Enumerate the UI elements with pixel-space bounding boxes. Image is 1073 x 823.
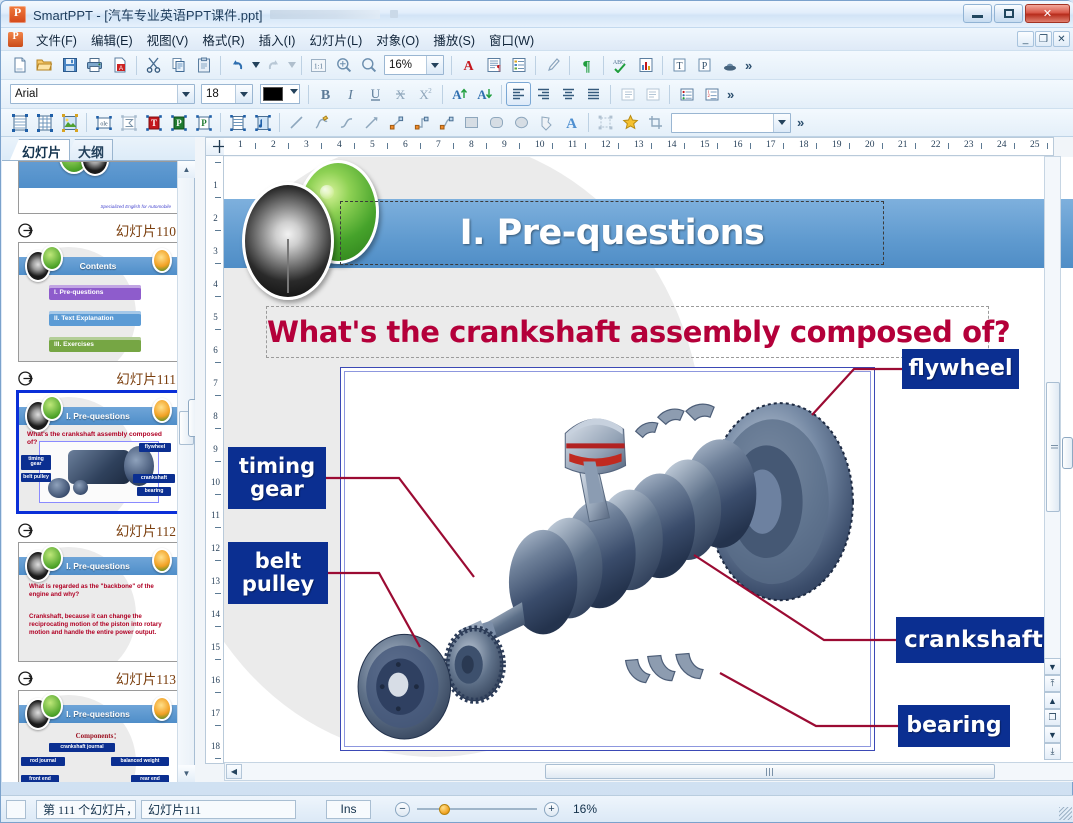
mdi-close-button[interactable]: ✕ [1053, 31, 1070, 47]
ruler-minor-tick [849, 143, 850, 149]
ruler-tick: 8 [206, 411, 224, 421]
ruler-minor-tick [618, 143, 619, 149]
slide-sorter-icon[interactable]: ❐ [1044, 709, 1061, 726]
ruler-minor-tick [882, 143, 883, 149]
standard-toolbar-overflow[interactable]: » [745, 58, 752, 73]
slide-navigator-panel: 幻灯片 大纲 Specialized English for Automobil… [2, 137, 195, 782]
ruler-tick: 5 [370, 140, 375, 150]
number-list-button[interactable]: 12 [699, 82, 724, 106]
ruler-tick: 16 [733, 140, 743, 150]
scroll-down-icon[interactable]: ▼ [178, 765, 195, 782]
chevron-down-icon[interactable] [290, 89, 298, 94]
formatting-toolbar-overflow[interactable]: » [727, 87, 734, 102]
underline-button[interactable]: U [363, 82, 388, 106]
insert-text-object-icon[interactable]: T [141, 111, 166, 135]
ruler-tick: 24 [997, 140, 1007, 150]
font-color-picker[interactable] [260, 84, 300, 104]
redo-icon[interactable] [261, 53, 286, 77]
ruler-minor-tick [215, 725, 221, 726]
toolbar-separator [669, 85, 670, 104]
ruler-minor-tick [816, 143, 817, 149]
ruler-tick: 17 [766, 140, 776, 150]
insert-spreadsheet-icon[interactable] [32, 111, 57, 135]
svg-text:A: A [463, 59, 474, 73]
menu-bar: 文件(F) 编辑(E) 视图(V) 格式(R) 插入(I) 幻灯片(L) 对象(… [1, 27, 1073, 50]
ruler-minor-tick [215, 329, 221, 330]
mini-contents-item-2: II. Text Explanation [49, 311, 141, 326]
font-name-combobox[interactable]: Arial [10, 84, 195, 104]
thumbnail-header: 幻灯片111 [18, 366, 178, 390]
toolbar-separator [279, 113, 280, 132]
toolbar-separator [442, 85, 443, 104]
slide-editor: 1234567891011121314151617181920212223242… [195, 137, 1073, 782]
ruler-tick: 13 [634, 140, 644, 150]
previous-slide-icon[interactable]: ▲ [1044, 692, 1061, 709]
toolbar-separator [301, 56, 302, 75]
chevron-down-icon[interactable] [426, 56, 443, 74]
slide-question-placeholder[interactable]: What's the crankshaft assembly composed … [266, 306, 989, 358]
crankshaft-picture-frame[interactable] [340, 367, 875, 751]
label-timing-gear[interactable]: timing gear [228, 447, 326, 509]
align-justify-button[interactable] [581, 82, 606, 106]
svg-text:1:1: 1:1 [314, 62, 323, 70]
ruler-tick: 18 [206, 741, 224, 751]
print-icon[interactable] [82, 53, 107, 77]
label-belt-pulley[interactable]: belt pulley [228, 542, 328, 604]
strikethrough-button[interactable]: X [388, 82, 413, 106]
menu-play[interactable]: 播放(S) [426, 28, 482, 51]
toolbar-separator [588, 113, 589, 132]
canvas-splitter-handle[interactable] [1062, 437, 1073, 469]
zoom-control: − + 16% [395, 802, 597, 817]
mini-label-flywheel: flywheel [139, 443, 171, 452]
new-icon[interactable] [7, 53, 32, 77]
ruler-tick: 4 [337, 140, 342, 150]
ruler-tick: 21 [898, 140, 908, 150]
ruler-minor-tick [215, 560, 221, 561]
tab-slides[interactable]: 幻灯片 [10, 139, 70, 160]
document-icon[interactable] [8, 32, 23, 47]
mini-bullet-1: What is regarded as the "backbone" of th… [29, 583, 171, 599]
zoom-slider-track[interactable] [417, 808, 537, 810]
decrease-indent-button[interactable] [615, 82, 640, 106]
toolbar-separator [662, 56, 663, 75]
ruler-minor-tick [288, 143, 289, 149]
insert-image-icon[interactable] [57, 111, 82, 135]
align-center-button[interactable] [556, 82, 581, 106]
ruler-minor-tick [453, 143, 454, 149]
scroll-left-icon[interactable]: ◀ [226, 764, 242, 779]
ruler-tick: 12 [206, 543, 224, 553]
ruler-tick: 23 [964, 140, 974, 150]
title-ghost-mark [390, 10, 398, 18]
mini-label-bearing: bearing [137, 487, 171, 496]
zoom-out-icon[interactable] [356, 53, 381, 77]
thumbnail-header: 幻灯片113 [18, 666, 178, 690]
ellipse-tool-icon[interactable] [509, 111, 534, 135]
ruler-minor-tick [215, 494, 221, 495]
scroll-down-small-icon[interactable]: ▼ [1044, 658, 1061, 675]
shrink-font-button[interactable]: A [472, 82, 497, 106]
bold-button[interactable]: B [313, 82, 338, 106]
ruler-tick: 3 [304, 140, 309, 150]
panel-tabs: 幻灯片 大纲 [2, 137, 195, 161]
slide-counter-field: 第 111 个幻灯片， [36, 800, 136, 819]
ruler-tick: 11 [206, 510, 224, 520]
stamp-icon[interactable] [717, 53, 742, 77]
ruler-tick: 19 [832, 140, 842, 150]
export-pdf-icon[interactable]: A [107, 53, 132, 77]
ruler-tick: 3 [206, 246, 224, 256]
ruler-minor-tick [387, 143, 388, 149]
ruler-tick: 13 [206, 576, 224, 586]
menu-format[interactable]: 格式(R) [195, 28, 251, 51]
window-resize-grip[interactable] [1059, 807, 1072, 820]
transition-icon[interactable] [18, 370, 38, 387]
ruler-minor-tick [215, 197, 221, 198]
ruler-minor-tick [354, 143, 355, 149]
slide-question-text: What's the crankshaft assembly composed … [267, 315, 1010, 349]
horizontal-ruler[interactable]: 1234567891011121314151617181920212223242… [224, 137, 1054, 156]
svg-text:P: P [176, 118, 182, 128]
vertical-ruler[interactable]: 123456789101112131415161718 [205, 156, 224, 764]
next-slide-icon[interactable]: ▼ [1044, 726, 1061, 743]
standard-toolbar: A 1:1 [1, 50, 1073, 79]
redo-dropdown[interactable] [286, 53, 297, 77]
italic-button[interactable]: I [338, 82, 363, 106]
ruler-minor-tick [215, 428, 221, 429]
ruler-tick: 20 [865, 140, 875, 150]
drawing-toolbar-overflow[interactable]: » [797, 115, 804, 130]
undo-dropdown[interactable] [250, 53, 261, 77]
thumbnail-header: 幻灯片110 [18, 218, 178, 242]
bullet-list-button[interactable] [674, 82, 699, 106]
svg-text:P: P [702, 61, 708, 72]
mini-tulip-photo [152, 548, 172, 573]
zoom-in-button[interactable]: + [544, 802, 559, 817]
zoom-slider-handle[interactable] [439, 804, 450, 815]
textbox-icon[interactable]: T [667, 53, 692, 77]
placeholder-icon[interactable]: P [692, 53, 717, 77]
zoom-fit-icon[interactable] [331, 53, 356, 77]
menu-slide[interactable]: 幻灯片(L) [302, 28, 369, 51]
zoom-combobox[interactable]: 16% [384, 55, 444, 75]
formatting-toolbar: Arial 18 B I U X X2 A A 12 » [1, 79, 1073, 108]
paragraph-icon[interactable]: ¶ [481, 53, 506, 77]
insert-chart-object-icon[interactable] [225, 111, 250, 135]
ruler-minor-tick [552, 143, 553, 149]
color-swatch [263, 87, 283, 101]
zoom-actual-icon[interactable]: 1:1 [306, 53, 331, 77]
window-controls: ✕ [963, 4, 1070, 23]
mini-label-belt-pulley: belt pulley [21, 473, 51, 482]
mini-leaf-photo [41, 693, 63, 719]
slide-thumbnail-list: Specialized English for Automobile 幻灯片11… [2, 161, 178, 782]
insert-ole-icon[interactable]: ole [91, 111, 116, 135]
group-icon[interactable] [593, 111, 618, 135]
freehand-tool-icon[interactable] [309, 111, 334, 135]
mini-leaf-photo [41, 245, 63, 271]
scroll-up-icon[interactable]: ▲ [178, 161, 195, 178]
ruler-tick: 14 [667, 140, 677, 150]
mini-label-timing-gear: timing gear [21, 455, 51, 470]
ruler-minor-tick [915, 143, 916, 149]
svg-text:¶: ¶ [497, 64, 501, 73]
align-left-button[interactable] [506, 82, 531, 106]
thumbnail-slide-113[interactable]: 幻灯片113 I. Pre-questions Components： cran… [2, 662, 178, 782]
svg-text:¶: ¶ [582, 59, 590, 74]
ruler-minor-tick [215, 659, 221, 660]
dandelion-photo[interactable] [242, 182, 334, 300]
toolbar-separator [220, 56, 221, 75]
tab-outline[interactable]: 大纲 [66, 139, 113, 160]
window-title: SmartPPT - [汽车专业英语PPT课件.ppt] [33, 5, 262, 24]
font-size-combobox[interactable]: 18 [201, 84, 253, 104]
ruler-tick: 4 [206, 279, 224, 289]
curved-connector-icon[interactable] [434, 111, 459, 135]
mini-heading: Components： [19, 731, 177, 741]
ruler-minor-tick [1047, 143, 1048, 149]
mini-label-crankshaft-journal: crankshaft journal [49, 743, 115, 752]
ruler-minor-tick [255, 143, 256, 149]
cut-icon[interactable] [141, 53, 166, 77]
toolbar-separator [501, 85, 502, 104]
wordart-tool-icon[interactable]: A [559, 111, 584, 135]
canvas-vertical-scrollbar[interactable] [1044, 156, 1061, 716]
zoom-level-label: 16% [573, 802, 597, 816]
toolbar-separator [535, 56, 536, 75]
transition-icon[interactable] [18, 522, 38, 539]
ruler-tick: 6 [206, 345, 224, 355]
svg-text:A: A [118, 66, 122, 72]
ruler-minor-tick [215, 692, 221, 693]
status-bar: 第 111 个幻灯片， 幻灯片111 Ins − + 16% [1, 795, 1073, 822]
vertical-scrollbar-thumb[interactable] [1046, 382, 1060, 512]
svg-text:B: B [321, 88, 330, 102]
outline-list-icon[interactable] [506, 53, 531, 77]
insert-project-icon[interactable]: P [191, 111, 216, 135]
ruler-minor-tick [215, 527, 221, 528]
ruler-tick: 9 [502, 140, 507, 150]
ruler-tick: 6 [403, 140, 408, 150]
horizontal-scrollbar-thumb[interactable] [545, 764, 995, 779]
toolbar-separator [136, 56, 137, 75]
mdi-restore-button[interactable]: ❐ [1035, 31, 1052, 47]
svg-text:ole: ole [100, 121, 108, 127]
application-window: SmartPPT - [汽车专业英语PPT课件.ppt] ✕ 文件(F) 编辑(… [0, 0, 1073, 823]
grow-font-button[interactable]: A [447, 82, 472, 106]
undo-icon[interactable] [225, 53, 250, 77]
maximize-button[interactable] [994, 4, 1023, 23]
insert-mode-field[interactable]: Ins [326, 800, 371, 819]
superscript-button[interactable]: X2 [413, 82, 438, 106]
label-belt-line2: pulley [242, 572, 314, 596]
ruler-minor-tick [215, 362, 221, 363]
mini-footer: Specialized English for Automobile [100, 204, 171, 209]
font-name-value: Arial [15, 88, 38, 100]
chevron-down-icon[interactable] [177, 85, 194, 103]
chevron-down-icon[interactable] [773, 114, 790, 132]
font-size-value: 18 [206, 88, 219, 100]
zoom-combobox-value: 16% [389, 59, 412, 71]
title-ghost-text [270, 10, 380, 19]
ruler-minor-tick [215, 461, 221, 462]
svg-text:A: A [477, 87, 487, 102]
app-logo-icon [9, 6, 26, 23]
ruler-tick: 16 [206, 675, 224, 685]
thumbnail-number: 幻灯片113 [116, 668, 176, 688]
slide-title-text: I. Pre-questions [460, 213, 765, 253]
thumbnail-image[interactable]: I. Pre-questions What is regarded as the… [18, 542, 178, 662]
menu-window[interactable]: 窗口(W) [482, 28, 541, 51]
menu-view[interactable]: 视图(V) [140, 28, 196, 51]
ruler-tick: 10 [535, 140, 545, 150]
canvas-horizontal-scrollbar[interactable]: ◀ ▶ [224, 762, 1073, 781]
slide-panel-scrollbar[interactable]: ▲ ▼ [177, 161, 194, 782]
ruler-tick: 7 [436, 140, 441, 150]
insert-presentation-icon[interactable]: P [166, 111, 191, 135]
ruler-minor-tick [981, 143, 982, 149]
svg-text:A: A [452, 87, 462, 102]
transition-icon[interactable] [18, 222, 38, 239]
format-painter-icon[interactable] [540, 53, 565, 77]
last-slide-icon[interactable]: ⤓ [1044, 743, 1061, 760]
insert-formula-icon[interactable] [116, 111, 141, 135]
thumbnail-image[interactable]: I. Pre-questions Components： crankshaft … [18, 690, 178, 782]
label-belt-line1: belt [255, 549, 302, 573]
ruler-tick: 2 [271, 140, 276, 150]
mini-leaf-photo [41, 545, 63, 571]
thumbnail-slide-112[interactable]: 幻灯片112 I. Pre-questions What is regarded… [2, 514, 178, 662]
label-crankshaft[interactable]: crankshaft [896, 617, 1051, 663]
connector-tool-icon[interactable] [384, 111, 409, 135]
curve-tool-icon[interactable] [334, 111, 359, 135]
label-flywheel[interactable]: flywheel [902, 349, 1019, 389]
font-color-icon[interactable]: A [456, 53, 481, 77]
thumbnail-image[interactable]: Contents I. Pre-questions II. Text Expla… [18, 242, 178, 362]
maximize-icon [1004, 9, 1014, 18]
zoom-out-button[interactable]: − [395, 802, 410, 817]
slide-canvas[interactable]: I. Pre-questions What's the crankshaft a… [224, 157, 1073, 764]
menu-insert[interactable]: 插入(I) [252, 28, 303, 51]
thumbnail-number: 幻灯片111 [116, 368, 176, 388]
svg-text:I: I [347, 88, 354, 102]
ruler-minor-tick [519, 143, 520, 149]
ruler-minor-tick [948, 143, 949, 149]
toolbar-separator [569, 56, 570, 75]
minimize-button[interactable] [963, 4, 992, 23]
ruler-tick: 1 [206, 180, 224, 190]
svg-text:U: U [371, 86, 381, 101]
crop-icon[interactable] [643, 111, 668, 135]
ruler-minor-tick [750, 143, 751, 149]
increase-indent-button[interactable] [640, 82, 665, 106]
menu-edit[interactable]: 编辑(E) [84, 28, 140, 51]
ruler-tick: 9 [206, 444, 224, 454]
ruler-tick: 14 [206, 609, 224, 619]
thumbnail-image-selected[interactable]: I. Pre-questions What's the crankshaft a… [16, 390, 178, 514]
open-icon[interactable] [32, 53, 57, 77]
ruler-tick: 25 [1030, 140, 1040, 150]
align-right-button[interactable] [531, 82, 556, 106]
ruler-tick: 17 [206, 708, 224, 718]
mini-label-rear-end: rear end [131, 775, 169, 782]
mini-label-crankshaft: crankshaft [133, 474, 175, 483]
pilcrow-icon[interactable]: ¶ [574, 53, 599, 77]
spellcheck-icon[interactable]: ABC [608, 53, 633, 77]
star-shape-icon[interactable] [618, 111, 643, 135]
thumbnail-slide-110[interactable]: 幻灯片110 Contents I. Pre-questions II. Tex… [2, 214, 178, 362]
rounded-rect-tool-icon[interactable] [484, 111, 509, 135]
mini-tulip-photo [152, 696, 172, 721]
thumbnail-slide-111[interactable]: 幻灯片111 I. Pre-questions What's the crank… [2, 362, 178, 514]
rectangle-tool-icon[interactable] [459, 111, 484, 135]
menu-file[interactable]: 文件(F) [29, 28, 84, 51]
ruler-minor-tick [783, 143, 784, 149]
mini-label-front-end: front end [21, 775, 59, 782]
copy-icon[interactable] [166, 53, 191, 77]
polygon-tool-icon[interactable] [534, 111, 559, 135]
slide-title-placeholder[interactable]: I. Pre-questions [340, 201, 884, 265]
transition-icon[interactable] [18, 670, 38, 687]
object-style-combobox[interactable] [671, 113, 791, 133]
slide-name-field: 幻灯片111 [141, 800, 296, 819]
ruler-tick: 18 [799, 140, 809, 150]
menu-object[interactable]: 对象(O) [369, 28, 426, 51]
save-icon[interactable] [57, 53, 82, 77]
svg-text:P: P [201, 118, 207, 128]
close-button[interactable]: ✕ [1025, 4, 1070, 23]
insert-media-icon[interactable] [250, 111, 275, 135]
thumbnail-number: 幻灯片110 [116, 220, 176, 240]
ruler-minor-tick [585, 143, 586, 149]
insert-table-icon[interactable] [7, 111, 32, 135]
ruler-tick: 10 [206, 477, 224, 487]
svg-text:A: A [566, 116, 577, 131]
label-bearing[interactable]: bearing [898, 705, 1010, 747]
elbow-connector-icon[interactable] [409, 111, 434, 135]
ruler-minor-tick [651, 143, 652, 149]
ruler-tick: 22 [931, 140, 941, 150]
ruler-tick: 7 [206, 378, 224, 388]
chevron-down-icon[interactable] [235, 85, 252, 103]
ruler-minor-tick [215, 230, 221, 231]
ruler-minor-tick [215, 263, 221, 264]
mdi-window-controls: _ ❐ ✕ [1017, 31, 1070, 47]
canvas-nav-buttons: ▼ ⤒ ▲ ❐ ▼ ⤓ [1044, 658, 1061, 760]
line-tool-icon[interactable] [284, 111, 309, 135]
toolbar-separator [220, 113, 221, 132]
thumbnail-image[interactable]: Specialized English for Automobile [18, 161, 178, 214]
chart-icon[interactable] [633, 53, 658, 77]
ruler-tick: 11 [568, 140, 577, 150]
toolbar-separator [610, 85, 611, 104]
ruler-tick: 8 [469, 140, 474, 150]
paste-icon[interactable] [191, 53, 216, 77]
first-slide-icon[interactable]: ⤒ [1044, 675, 1061, 692]
arrow-tool-icon[interactable] [359, 111, 384, 135]
thumbnail-partial[interactable]: Specialized English for Automobile [2, 161, 178, 214]
ruler-tick: 2 [206, 213, 224, 223]
ruler-minor-tick [684, 143, 685, 149]
mdi-minimize-button[interactable]: _ [1017, 31, 1034, 47]
toolbar-separator [603, 56, 604, 75]
svg-text:2: 2 [428, 87, 432, 95]
crankshaft-illustration [346, 373, 869, 745]
status-field-empty [6, 800, 26, 819]
svg-text:T: T [150, 118, 156, 128]
ruler-tick: 12 [601, 140, 611, 150]
